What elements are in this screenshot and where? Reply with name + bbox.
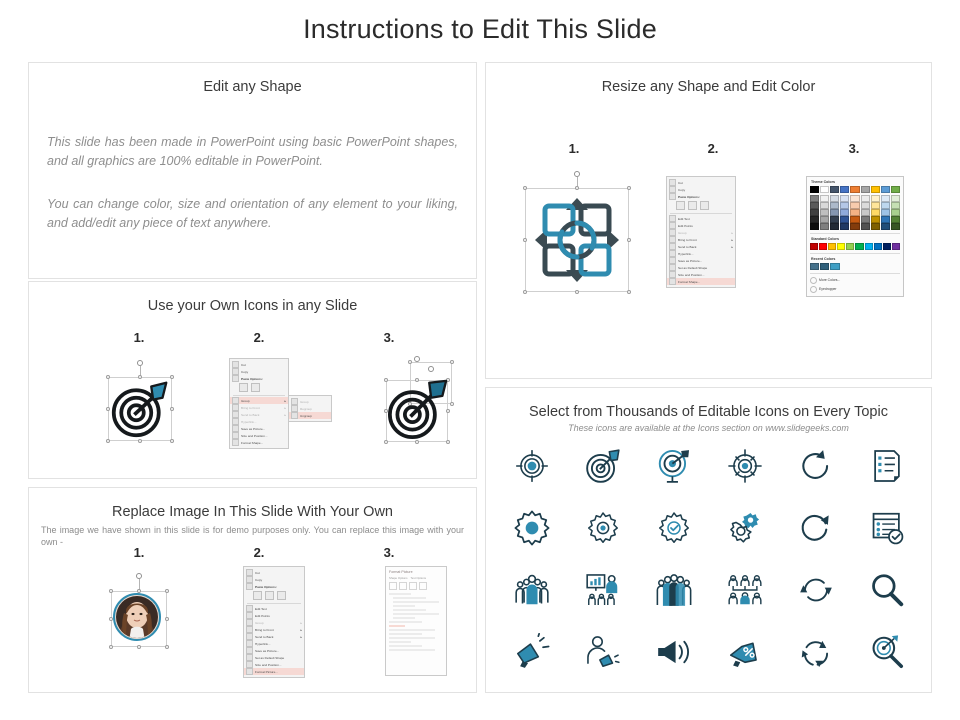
menu-item-glyph-icon (232, 418, 239, 425)
menu-item-send-to-back[interactable]: Send to Back▸ (230, 411, 288, 418)
paste-option-icon[interactable] (253, 591, 262, 600)
group-submenu[interactable]: GroupRegroupUngroup (288, 395, 332, 422)
slide-canvas: Instructions to Edit This Slide Edit any… (0, 0, 960, 720)
picture-icon[interactable] (419, 582, 427, 590)
fill-option-row[interactable] (393, 601, 439, 603)
menu-item-bring-to-front[interactable]: Bring to Front▸ (230, 404, 288, 411)
replace-image-step-3-shot: Format PictureShape OptionsText Options (377, 566, 489, 684)
color-swatch[interactable] (810, 216, 819, 223)
menu-item-glyph-icon (291, 412, 298, 419)
menu-separator (670, 213, 732, 214)
color-swatch[interactable] (820, 195, 829, 202)
group-context-menu[interactable]: CutCopyPaste Options:Group▸Bring to Fron… (229, 358, 289, 449)
icon-target-crosshair[interactable] (508, 440, 556, 492)
menu-item-hyperlink[interactable]: Hyperlink... (667, 250, 735, 257)
theme-tint-row (810, 195, 900, 202)
eyedropper-icon (810, 286, 817, 293)
panel-title-icon-library: Select from Thousands of Editable Icons … (486, 404, 931, 420)
pane-row (389, 641, 411, 643)
color-swatch[interactable] (881, 216, 890, 223)
fill-option-row[interactable] (393, 613, 439, 615)
menu-item-bring-to-front[interactable]: Bring to Front▸ (244, 626, 304, 633)
menu-item-paste-options[interactable]: Paste Options: (667, 193, 735, 200)
menu-item-glyph-icon (669, 179, 676, 186)
menu-item-size-and-position[interactable]: Size and Position... (244, 661, 304, 668)
panel-icon-library: Select from Thousands of Editable Icons … (485, 387, 932, 693)
pane-row (389, 649, 435, 651)
menu-item-paste-options[interactable]: Paste Options: (230, 375, 288, 382)
theme-tint-row (810, 223, 900, 230)
menu-item-size-and-position[interactable]: Size and Position... (667, 271, 735, 278)
pane-row (389, 645, 422, 647)
menu-item-label: Bring to Front (241, 406, 260, 410)
format-picture-title: Format Picture (389, 570, 443, 574)
menu-item-glyph-icon (232, 404, 239, 411)
color-swatch[interactable] (850, 186, 859, 193)
color-swatch[interactable] (830, 223, 839, 230)
menu-item-label: Copy (255, 578, 262, 582)
menu-item-format-shape[interactable]: Format Shape... (230, 439, 288, 446)
menu-item-edit-points[interactable]: Edit Points (244, 612, 304, 619)
color-swatch[interactable] (871, 223, 880, 230)
color-swatch[interactable] (861, 195, 870, 202)
menu-item-glyph-icon (669, 264, 676, 271)
own-icons-step-1-number: 1. (119, 330, 159, 345)
color-swatch[interactable] (874, 243, 882, 250)
menu-item-label: Send to Back (241, 413, 259, 417)
menu-item-label: Hyperlink... (255, 642, 270, 646)
chevron-right-icon: ▸ (300, 628, 302, 632)
menu-item-save-as-picture[interactable]: Save as Picture... (230, 425, 288, 432)
replace-image-step-2-number: 2. (239, 545, 279, 560)
paste-option-icon[interactable] (277, 591, 286, 600)
eyedropper-item[interactable]: Eyedropper (810, 286, 900, 293)
color-swatch[interactable] (871, 216, 880, 223)
color-swatch[interactable] (820, 223, 829, 230)
paste-option-icon[interactable] (251, 383, 260, 392)
color-swatch[interactable] (810, 186, 819, 193)
menu-item-cut[interactable]: Cut (244, 569, 304, 576)
fill-option-row[interactable] (393, 605, 415, 607)
icon-gear-solid[interactable] (508, 502, 556, 554)
fill-option-row[interactable] (393, 609, 426, 611)
panel-use-own-icons: Use your Own Icons in any Slide 1. 2. 3.… (28, 281, 477, 479)
chevron-right-icon: ▸ (300, 635, 302, 639)
resize-step-2-shot: CutCopyPaste Options:Edit TextEdit Point… (658, 176, 768, 321)
menu-item-label: Hyperlink... (678, 252, 693, 256)
color-swatch[interactable] (840, 186, 849, 193)
menu-item-glyph-icon (246, 619, 253, 626)
effects-icon[interactable] (399, 582, 407, 590)
menu-item-glyph-icon (232, 432, 239, 439)
menu-item-label: Set as Default Shape (678, 266, 707, 270)
menu-item-glyph-icon (246, 583, 253, 590)
paste-option-icon[interactable] (688, 201, 697, 210)
icon-library-subtitle: These icons are available at the Icons s… (486, 423, 931, 433)
icon-checklist-document[interactable] (863, 440, 911, 492)
icon-gear-outline[interactable] (579, 502, 627, 554)
color-swatch[interactable] (830, 202, 839, 209)
color-swatch[interactable] (840, 216, 849, 223)
icon-team-group[interactable] (650, 564, 698, 616)
menu-item-glyph-icon (246, 640, 253, 647)
standard-colors-label: Standard Colors (811, 237, 900, 241)
menu-item-label: Paste Options: (241, 377, 263, 381)
menu-item-glyph-icon (232, 411, 239, 418)
fill-icon[interactable] (389, 582, 397, 590)
chevron-right-icon: ▸ (284, 413, 286, 417)
standard-colors-row (810, 243, 900, 250)
format-picture-icon-row (389, 582, 443, 590)
menu-item-glyph-icon (232, 361, 239, 368)
pane-row (389, 629, 435, 631)
color-swatch[interactable] (871, 186, 880, 193)
menu-item-glyph-icon (669, 193, 676, 200)
menu-item-regroup[interactable]: Regroup (289, 405, 331, 412)
menu-item-bring-to-front[interactable]: Bring to Front▸ (667, 236, 735, 243)
own-icons-step-1-shot (81, 358, 199, 463)
icon-megaphone-discount[interactable] (721, 626, 769, 678)
menu-item-glyph-icon (669, 278, 676, 285)
menu-item-cut[interactable]: Cut (230, 361, 288, 368)
menu-item-label: Group (241, 399, 250, 403)
icon-megaphone[interactable] (508, 626, 556, 678)
menu-item-label: Format Shape... (678, 280, 700, 284)
menu-item-label: Bring to Front (255, 628, 274, 632)
theme-tint-row (810, 202, 900, 209)
paste-option-icon[interactable] (265, 591, 274, 600)
icon-gears-double[interactable] (721, 502, 769, 554)
menu-item-label: Copy (241, 370, 248, 374)
menu-item-save-as-picture[interactable]: Save as Picture... (667, 257, 735, 264)
format-picture-pane[interactable]: Format PictureShape OptionsText Options (385, 566, 447, 676)
menu-item-group[interactable]: Group▸ (244, 619, 304, 626)
menu-item-glyph-icon (232, 439, 239, 446)
palette-icon (810, 277, 817, 284)
color-swatch[interactable] (881, 209, 890, 216)
paste-option-icon[interactable] (239, 383, 248, 392)
color-swatch[interactable] (810, 263, 819, 270)
color-swatch[interactable] (830, 216, 839, 223)
color-swatch[interactable] (850, 209, 859, 216)
own-icons-step-2-shot: CutCopyPaste Options:Group▸Bring to Fron… (229, 354, 341, 466)
picture-context-menu[interactable]: CutCopyPaste Options:Edit TextEdit Point… (243, 566, 305, 678)
menu-item-glyph-icon (669, 215, 676, 222)
menu-item-glyph-icon (669, 250, 676, 257)
icon-team-leader[interactable] (508, 564, 556, 616)
icon-target-scope[interactable] (721, 440, 769, 492)
color-swatch[interactable] (891, 202, 900, 209)
panel-title-edit-shape: Edit any Shape (29, 79, 476, 95)
menu-item-group[interactable]: Group▸ (230, 397, 288, 404)
pane-row (389, 633, 422, 635)
icon-checklist-approved[interactable] (863, 502, 911, 554)
icon-loudspeaker[interactable] (650, 626, 698, 678)
menu-item-label: Paste Options: (255, 585, 277, 589)
color-label-row (389, 621, 422, 623)
menu-item-label: Cut (678, 181, 683, 185)
paste-options-row[interactable] (230, 382, 288, 393)
shape-context-menu[interactable]: CutCopyPaste Options:Edit TextEdit Point… (666, 176, 736, 288)
color-swatch[interactable] (819, 243, 827, 250)
menu-item-label: Edit Text (678, 217, 690, 221)
page-title: Instructions to Edit This Slide (0, 14, 960, 45)
panel-replace-image: Replace Image In This Slide With Your Ow… (28, 487, 477, 693)
menu-item-glyph-icon (246, 569, 253, 576)
icon-dartboard-arrow[interactable] (579, 440, 627, 492)
color-swatch[interactable] (850, 216, 859, 223)
icon-org-chart[interactable] (721, 564, 769, 616)
menu-item-glyph-icon (669, 186, 676, 193)
own-icons-step-3-shot (364, 352, 482, 464)
resize-step-3-number: 3. (834, 141, 874, 156)
menu-item-edit-points[interactable]: Edit Points (667, 222, 735, 229)
color-picker-panel[interactable]: Theme ColorsStandard ColorsRecent Colors… (806, 176, 904, 297)
theme-colors-label: Theme Colors (811, 180, 900, 184)
menu-item-glyph-icon (246, 668, 253, 675)
fill-option-row[interactable] (393, 617, 415, 619)
menu-item-edit-text[interactable]: Edit Text (667, 215, 735, 222)
fill-option-row[interactable] (393, 597, 426, 599)
color-swatch[interactable] (830, 195, 839, 202)
menu-item-label: Set as Default Shape (255, 656, 284, 660)
menu-item-copy[interactable]: Copy (230, 368, 288, 375)
paste-option-icon[interactable] (700, 201, 709, 210)
editable-shape-icon (527, 190, 627, 290)
menu-item-group[interactable]: Group (289, 398, 331, 405)
divider (810, 273, 900, 274)
color-swatch[interactable] (820, 186, 829, 193)
selected-color-swatch[interactable] (389, 625, 405, 627)
color-swatch[interactable] (850, 223, 859, 230)
menu-item-size-and-position[interactable]: Size and Position... (230, 432, 288, 439)
replace-image-step-1-number: 1. (119, 545, 159, 560)
color-swatch[interactable] (871, 209, 880, 216)
color-swatch[interactable] (810, 243, 818, 250)
color-swatch[interactable] (883, 243, 891, 250)
icon-sync-arrows[interactable] (792, 564, 840, 616)
menu-item-hyperlink[interactable]: Hyperlink... (244, 640, 304, 647)
menu-item-set-as-default-shape[interactable]: Set as Default Shape (244, 654, 304, 661)
chevron-right-icon: ▸ (284, 399, 286, 403)
color-swatch[interactable] (881, 223, 890, 230)
dartboard-arrow-ungrouped-icon (388, 378, 448, 440)
menu-item-edit-text[interactable]: Edit Text (244, 605, 304, 612)
panel-resize-shape: Resize any Shape and Edit Color 1. 2. 3. (485, 62, 932, 379)
menu-item-send-to-back[interactable]: Send to Back▸ (244, 633, 304, 640)
resize-step-1-number: 1. (554, 141, 594, 156)
menu-item-glyph-icon (246, 647, 253, 654)
menu-item-label: Group (255, 621, 264, 625)
menu-item-label: Cut (241, 363, 246, 367)
menu-item-format-shape[interactable]: Format Shape... (667, 278, 735, 285)
color-swatch[interactable] (850, 202, 859, 209)
menu-item-label: Format Shape... (241, 441, 263, 445)
menu-item-glyph-icon (291, 405, 298, 412)
menu-item-glyph-icon (246, 576, 253, 583)
chevron-right-icon: ▸ (284, 406, 286, 410)
menu-item-glyph-icon (669, 222, 676, 229)
menu-item-label: Edit Points (678, 224, 693, 228)
menu-item-hyperlink[interactable]: Hyperlink... (230, 418, 288, 425)
icon-target-stand[interactable] (650, 440, 698, 492)
color-swatch[interactable] (828, 243, 836, 250)
color-swatch[interactable] (810, 223, 819, 230)
menu-item-save-as-picture[interactable]: Save as Picture... (244, 647, 304, 654)
icon-gear-check[interactable] (650, 502, 698, 554)
color-swatch[interactable] (891, 209, 900, 216)
format-picture-tab[interactable]: Shape Options (389, 576, 408, 580)
menu-item-glyph-icon (232, 375, 239, 382)
menu-item-glyph-icon (232, 425, 239, 432)
fill-section-label (389, 593, 411, 595)
panel-title-replace-image: Replace Image In This Slide With Your Ow… (29, 504, 476, 520)
edit-shape-paragraph-1: This slide has been made in PowerPoint u… (47, 133, 458, 171)
menu-item-copy[interactable]: Copy (244, 576, 304, 583)
color-swatch[interactable] (861, 209, 870, 216)
menu-item-glyph-icon (246, 654, 253, 661)
menu-item-paste-options[interactable]: Paste Options: (244, 583, 304, 590)
color-swatch[interactable] (810, 202, 819, 209)
color-swatch[interactable] (891, 216, 900, 223)
replace-image-step-2-shot: CutCopyPaste Options:Edit TextEdit Point… (229, 566, 341, 684)
menu-item-label: Size and Position... (241, 434, 267, 438)
menu-item-group[interactable]: Group▸ (667, 229, 735, 236)
color-swatch[interactable] (861, 223, 870, 230)
icon-refresh-triangle[interactable] (792, 626, 840, 678)
menu-item-glyph-icon (246, 626, 253, 633)
menu-item-format-picture[interactable]: Format Picture... (244, 668, 304, 675)
demo-portrait-photo (113, 593, 161, 641)
color-swatch[interactable] (830, 263, 839, 270)
color-swatch[interactable] (871, 195, 880, 202)
theme-tint-row (810, 216, 900, 223)
menu-item-label: Save as Picture... (255, 649, 279, 653)
menu-separator (247, 603, 301, 604)
dartboard-arrow-icon (110, 379, 170, 439)
icon-person-megaphone[interactable] (579, 626, 627, 678)
color-swatch[interactable] (840, 195, 849, 202)
chevron-right-icon: ▸ (731, 245, 733, 249)
menu-item-glyph-icon (669, 271, 676, 278)
color-swatch[interactable] (820, 216, 829, 223)
menu-item-glyph-icon (246, 612, 253, 619)
menu-item-label: Edit Points (255, 614, 270, 618)
menu-item-glyph-icon (246, 605, 253, 612)
menu-item-cut[interactable]: Cut (667, 179, 735, 186)
color-swatch[interactable] (881, 186, 890, 193)
color-swatch[interactable] (840, 209, 849, 216)
divider (810, 253, 900, 254)
replace-image-step-1-shot (87, 570, 197, 680)
icon-reload-circle[interactable] (792, 502, 840, 554)
chevron-right-icon: ▸ (731, 238, 733, 242)
icon-presentation-audience[interactable] (579, 564, 627, 616)
color-swatch[interactable] (850, 195, 859, 202)
menu-item-label: Hyperlink... (241, 420, 256, 424)
color-swatch[interactable] (891, 223, 900, 230)
color-swatch[interactable] (871, 202, 880, 209)
color-swatch[interactable] (892, 243, 900, 250)
menu-item-ungroup[interactable]: Ungroup (289, 412, 331, 419)
color-swatch[interactable] (810, 209, 819, 216)
menu-item-label: Cut (255, 571, 260, 575)
paste-options-row[interactable] (244, 590, 304, 601)
chevron-right-icon: ▸ (731, 231, 733, 235)
color-swatch[interactable] (881, 195, 890, 202)
color-swatch[interactable] (820, 263, 829, 270)
panel-title-resize-shape: Resize any Shape and Edit Color (486, 79, 931, 95)
menu-item-label: Group (300, 400, 309, 404)
menu-item-label: Eyedropper (819, 287, 837, 291)
menu-item-glyph-icon (669, 243, 676, 250)
color-swatch[interactable] (820, 209, 829, 216)
own-icons-step-2-number: 2. (239, 330, 279, 345)
format-picture-tabs: Shape OptionsText Options (389, 576, 443, 580)
color-swatch[interactable] (865, 243, 873, 250)
icon-magnifier[interactable] (863, 564, 911, 616)
icon-magnifier-target[interactable] (863, 626, 911, 678)
color-swatch[interactable] (891, 186, 900, 193)
color-swatch[interactable] (881, 202, 890, 209)
format-picture-tab[interactable]: Text Options (411, 576, 427, 580)
menu-item-label: Edit Text (255, 607, 267, 611)
icon-refresh-clockwise[interactable] (792, 440, 840, 492)
resize-step-2-number: 2. (693, 141, 733, 156)
menu-item-set-as-default-shape[interactable]: Set as Default Shape (667, 264, 735, 271)
menu-item-send-to-back[interactable]: Send to Back▸ (667, 243, 735, 250)
color-swatch[interactable] (830, 209, 839, 216)
menu-item-label: Save as Picture... (241, 427, 265, 431)
color-swatch[interactable] (810, 195, 819, 202)
menu-item-label: Send to Back (255, 635, 273, 639)
divider (810, 233, 900, 234)
color-swatch[interactable] (861, 202, 870, 209)
menu-item-copy[interactable]: Copy (667, 186, 735, 193)
color-swatch[interactable] (840, 223, 849, 230)
color-swatch[interactable] (861, 186, 870, 193)
panel-edit-any-shape: Edit any Shape This slide has been made … (28, 62, 477, 279)
color-swatch[interactable] (855, 243, 863, 250)
color-swatch[interactable] (846, 243, 854, 250)
color-swatch[interactable] (820, 202, 829, 209)
color-swatch[interactable] (830, 186, 839, 193)
paste-option-icon[interactable] (676, 201, 685, 210)
color-swatch[interactable] (837, 243, 845, 250)
paste-options-row[interactable] (667, 200, 735, 211)
more-colors-item[interactable]: More Colors... (810, 277, 900, 284)
replace-image-step-3-number: 3. (369, 545, 409, 560)
menu-separator (233, 395, 285, 396)
menu-item-glyph-icon (669, 229, 676, 236)
menu-item-label: Size and Position... (255, 663, 281, 667)
theme-colors-row (810, 186, 900, 193)
color-swatch[interactable] (891, 195, 900, 202)
menu-item-label: Send to Back (678, 245, 696, 249)
menu-item-label: Ungroup (300, 414, 312, 418)
menu-item-label: Regroup (300, 407, 312, 411)
color-swatch[interactable] (840, 202, 849, 209)
panel-title-own-icons: Use your Own Icons in any Slide (29, 298, 476, 314)
menu-item-label: Paste Options: (678, 195, 700, 199)
color-swatch[interactable] (861, 216, 870, 223)
size-icon[interactable] (409, 582, 417, 590)
menu-item-glyph-icon (232, 397, 239, 404)
menu-item-glyph-icon (246, 661, 253, 668)
resize-step-1-shot (506, 171, 646, 321)
menu-item-label: Copy (678, 188, 685, 192)
menu-item-label: Bring to Front (678, 238, 697, 242)
